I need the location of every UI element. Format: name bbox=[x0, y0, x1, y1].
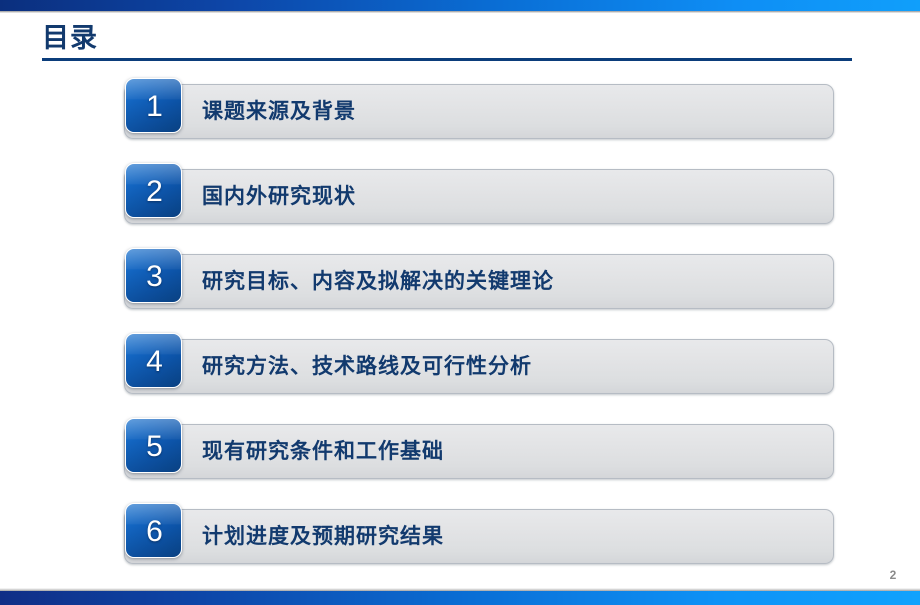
toc-item-number-badge: 5 bbox=[125, 418, 182, 473]
toc-item-number-badge: 3 bbox=[125, 248, 182, 303]
toc-item[interactable]: 1课题来源及背景 bbox=[124, 78, 834, 140]
page-number: 2 bbox=[880, 568, 906, 582]
toc-item-label: 课题来源及背景 bbox=[202, 84, 356, 139]
toc-item-number: 4 bbox=[126, 334, 183, 389]
toc-item[interactable]: 6计划进度及预期研究结果 bbox=[124, 503, 834, 565]
toc-item-label: 现有研究条件和工作基础 bbox=[202, 424, 444, 479]
bottom-accent-bar bbox=[0, 591, 920, 605]
toc-item[interactable]: 5现有研究条件和工作基础 bbox=[124, 418, 834, 480]
table-of-contents: 1课题来源及背景2国内外研究现状3研究目标、内容及拟解决的关键理论4研究方法、技… bbox=[0, 0, 920, 605]
slide: 目录 1课题来源及背景2国内外研究现状3研究目标、内容及拟解决的关键理论4研究方… bbox=[0, 0, 920, 605]
toc-item-number-badge: 6 bbox=[125, 503, 182, 558]
toc-item-number-badge: 1 bbox=[125, 78, 182, 133]
toc-item[interactable]: 3研究目标、内容及拟解决的关键理论 bbox=[124, 248, 834, 310]
toc-item[interactable]: 4研究方法、技术路线及可行性分析 bbox=[124, 333, 834, 395]
toc-item-label: 研究目标、内容及拟解决的关键理论 bbox=[202, 254, 554, 309]
toc-item-number: 5 bbox=[126, 419, 183, 474]
toc-item[interactable]: 2国内外研究现状 bbox=[124, 163, 834, 225]
toc-item-number: 1 bbox=[126, 79, 183, 134]
toc-item-label: 国内外研究现状 bbox=[202, 169, 356, 224]
toc-item-number: 6 bbox=[126, 504, 183, 559]
toc-item-number: 2 bbox=[126, 164, 183, 219]
toc-item-number-badge: 2 bbox=[125, 163, 182, 218]
toc-item-number-badge: 4 bbox=[125, 333, 182, 388]
toc-item-label: 计划进度及预期研究结果 bbox=[202, 509, 444, 564]
toc-item-number: 3 bbox=[126, 249, 183, 304]
toc-item-label: 研究方法、技术路线及可行性分析 bbox=[202, 339, 532, 394]
